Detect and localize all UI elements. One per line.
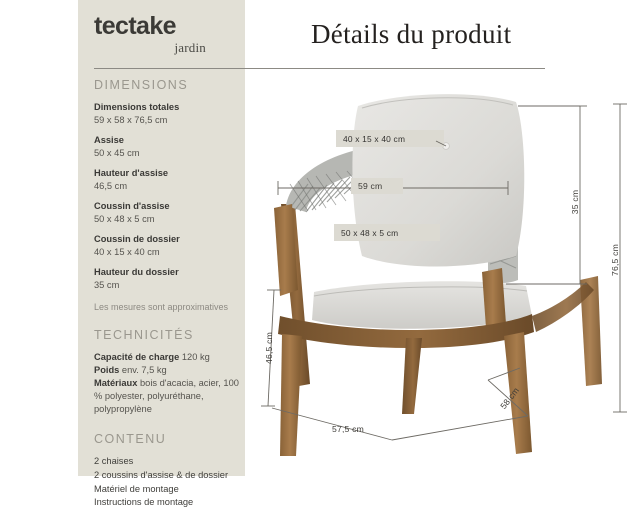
brand-subtitle: jardin bbox=[94, 40, 206, 56]
spec-value: 46,5 cm bbox=[94, 180, 244, 193]
spec-value: 50 x 45 cm bbox=[94, 147, 244, 160]
product-illustration: 59 cm 40 x 15 x 40 cm 50 x 48 x 5 cm 35 … bbox=[250, 84, 640, 480]
dim-base-width: 57,5 cm bbox=[332, 424, 364, 434]
tech-value: 120 kg bbox=[182, 352, 210, 362]
spec-hauteur-dossier: Hauteur du dossier 35 cm bbox=[94, 266, 244, 291]
spec-assise: Assise 50 x 45 cm bbox=[94, 134, 244, 159]
list-item: Matériel de montage bbox=[94, 483, 244, 497]
brand-name: tectake bbox=[94, 14, 244, 39]
section-heading-dimensions: DIMENSIONS bbox=[94, 78, 244, 92]
product-detail-sheet: tectake jardin Détails du produit DIMENS… bbox=[0, 0, 640, 480]
section-heading-contenu: CONTENU bbox=[94, 432, 244, 446]
measurement-note: Les mesures sont approximatives bbox=[94, 301, 244, 313]
page-title: Détails du produit bbox=[311, 19, 511, 50]
dim-seat-height: 46,5 cm bbox=[264, 332, 274, 364]
brand-logo: tectake jardin bbox=[94, 14, 244, 56]
tech-key: Matériaux bbox=[94, 378, 137, 388]
section-heading-technicites: TECHNICITÉS bbox=[94, 328, 244, 342]
spec-label: Hauteur du dossier bbox=[94, 266, 244, 279]
spec-label: Dimensions totales bbox=[94, 101, 244, 114]
spec-value: 50 x 48 x 5 cm bbox=[94, 213, 244, 226]
spec-value: 40 x 15 x 40 cm bbox=[94, 246, 244, 259]
list-item: Instructions de montage bbox=[94, 496, 244, 510]
chair-leg-center-rear bbox=[402, 338, 422, 414]
section-dimensions: DIMENSIONS Dimensions totales 59 x 58 x … bbox=[94, 78, 244, 313]
spec-value: 35 cm bbox=[94, 279, 244, 292]
spec-dimensions-totales: Dimensions totales 59 x 58 x 76,5 cm bbox=[94, 101, 244, 126]
section-contenu: CONTENU 2 chaises 2 coussins d'assise & … bbox=[94, 432, 244, 510]
tech-capacite: Capacité de charge 120 kg bbox=[94, 351, 244, 364]
sidebar-content: DIMENSIONS Dimensions totales 59 x 58 x … bbox=[94, 78, 244, 510]
callout-seat-cushion: 50 x 48 x 5 cm bbox=[341, 228, 398, 238]
spec-label: Assise bbox=[94, 134, 244, 147]
spec-coussin-assise: Coussin d'assise 50 x 48 x 5 cm bbox=[94, 200, 244, 225]
chair-arm-right bbox=[482, 268, 506, 328]
chair-leg-front-left bbox=[280, 334, 302, 456]
list-item: 2 chaises bbox=[94, 455, 244, 469]
dim-width-top: 59 cm bbox=[358, 181, 382, 191]
spec-label: Coussin d'assise bbox=[94, 200, 244, 213]
spec-hauteur-assise: Hauteur d'assise 46,5 cm bbox=[94, 167, 244, 192]
spec-label: Hauteur d'assise bbox=[94, 167, 244, 180]
list-item: 2 coussins d'assise & de dossier bbox=[94, 469, 244, 483]
tech-key: Poids bbox=[94, 365, 119, 375]
dim-back-height: 35 cm bbox=[570, 190, 580, 214]
chair-artwork bbox=[274, 94, 602, 456]
tech-materiaux: Matériaux bois d'acacia, acier, 100 % po… bbox=[94, 377, 244, 417]
tech-poids: Poids env. 7,5 kg bbox=[94, 364, 244, 377]
spec-value: 59 x 58 x 76,5 cm bbox=[94, 114, 244, 127]
tech-value: env. 7,5 kg bbox=[122, 365, 167, 375]
callout-back-cushion: 40 x 15 x 40 cm bbox=[343, 134, 405, 144]
spec-label: Coussin de dossier bbox=[94, 233, 244, 246]
header-divider bbox=[94, 68, 545, 69]
section-technicites: TECHNICITÉS Capacité de charge 120 kg Po… bbox=[94, 328, 244, 417]
dim-total-height: 76,5 cm bbox=[610, 244, 620, 276]
spec-coussin-dossier: Coussin de dossier 40 x 15 x 40 cm bbox=[94, 233, 244, 258]
tech-key: Capacité de charge bbox=[94, 352, 179, 362]
